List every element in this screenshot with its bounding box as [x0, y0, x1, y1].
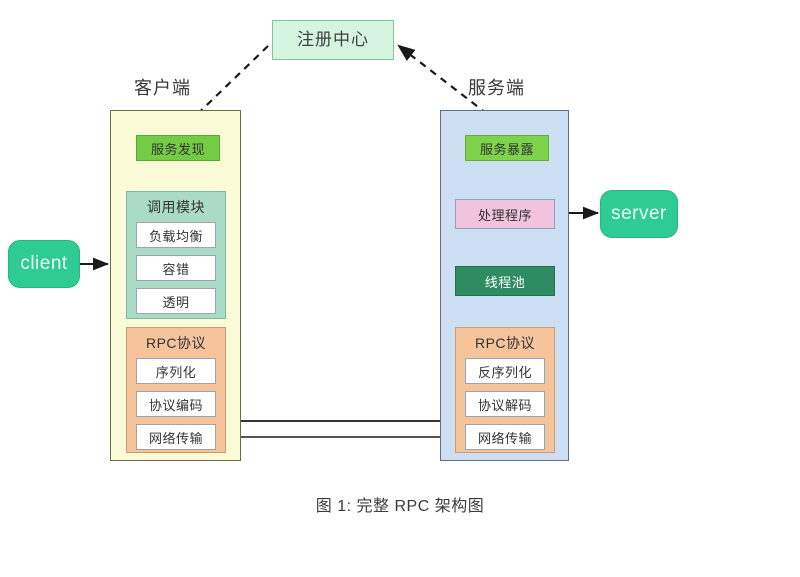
server-rpc-item-protocol-decode[interactable]: 协议解码 — [465, 391, 545, 417]
figure-caption: 图 1: 完整 RPC 架构图 — [0, 492, 800, 516]
invoke-item-transparency[interactable]: 透明 — [136, 288, 216, 314]
diagram-canvas: 注册中心 客户端 服务端 服务发现 调用模块 负载均衡 容错 透明 RPC协议 … — [0, 0, 800, 577]
service-expose-label: 服务暴露 — [480, 139, 534, 158]
server-side-caption: 服务端 — [468, 74, 525, 100]
server-rpc-item-deserialization[interactable]: 反序列化 — [465, 358, 545, 384]
invoke-item-fault-tolerance-label: 容错 — [162, 259, 189, 278]
external-server-node[interactable]: server — [600, 190, 678, 238]
service-expose-box[interactable]: 服务暴露 — [465, 135, 549, 161]
client-rpc-item-serialization[interactable]: 序列化 — [136, 358, 216, 384]
handler-label: 处理程序 — [478, 205, 532, 224]
external-client-label: client — [20, 253, 67, 275]
server-rpc-protocol-title: RPC协议 — [456, 333, 554, 353]
registry-center-box[interactable]: 注册中心 — [272, 20, 394, 60]
server-panel: 服务暴露 处理程序 线程池 RPC协议 反序列化 协议解码 网络传输 — [440, 110, 569, 461]
invoke-module-title: 调用模块 — [127, 197, 225, 217]
invoke-item-fault-tolerance[interactable]: 容错 — [136, 255, 216, 281]
client-panel: 服务发现 调用模块 负载均衡 容错 透明 RPC协议 序列化 协议编码 网络传输 — [110, 110, 241, 461]
client-rpc-protocol-group: RPC协议 序列化 协议编码 网络传输 — [126, 327, 226, 453]
invoke-item-transparency-label: 透明 — [162, 292, 189, 311]
external-server-label: server — [611, 203, 667, 225]
client-rpc-item-network-transport-label: 网络传输 — [149, 428, 203, 447]
external-client-node[interactable]: client — [8, 240, 80, 288]
client-side-caption: 客户端 — [134, 74, 191, 100]
client-rpc-item-network-transport[interactable]: 网络传输 — [136, 424, 216, 450]
thread-pool-label: 线程池 — [485, 272, 526, 291]
handler-box[interactable]: 处理程序 — [455, 199, 555, 229]
invoke-item-load-balance-label: 负载均衡 — [149, 226, 203, 245]
invoke-item-load-balance[interactable]: 负载均衡 — [136, 222, 216, 248]
thread-pool-box[interactable]: 线程池 — [455, 266, 555, 296]
service-discovery-label: 服务发现 — [151, 139, 205, 158]
server-rpc-protocol-group: RPC协议 反序列化 协议解码 网络传输 — [455, 327, 555, 453]
registry-center-label: 注册中心 — [297, 31, 369, 50]
client-rpc-item-protocol-encode-label: 协议编码 — [149, 395, 203, 414]
client-rpc-item-protocol-encode[interactable]: 协议编码 — [136, 391, 216, 417]
server-rpc-item-protocol-decode-label: 协议解码 — [478, 395, 532, 414]
server-rpc-item-network-transport[interactable]: 网络传输 — [465, 424, 545, 450]
service-discovery-box[interactable]: 服务发现 — [136, 135, 220, 161]
client-rpc-protocol-title: RPC协议 — [127, 333, 225, 353]
client-rpc-item-serialization-label: 序列化 — [156, 362, 197, 381]
arrow-client-transport-to-server-transport — [224, 421, 468, 429]
server-rpc-item-deserialization-label: 反序列化 — [478, 362, 532, 381]
server-rpc-item-network-transport-label: 网络传输 — [478, 428, 532, 447]
invoke-module-group: 调用模块 负载均衡 容错 透明 — [126, 191, 226, 319]
